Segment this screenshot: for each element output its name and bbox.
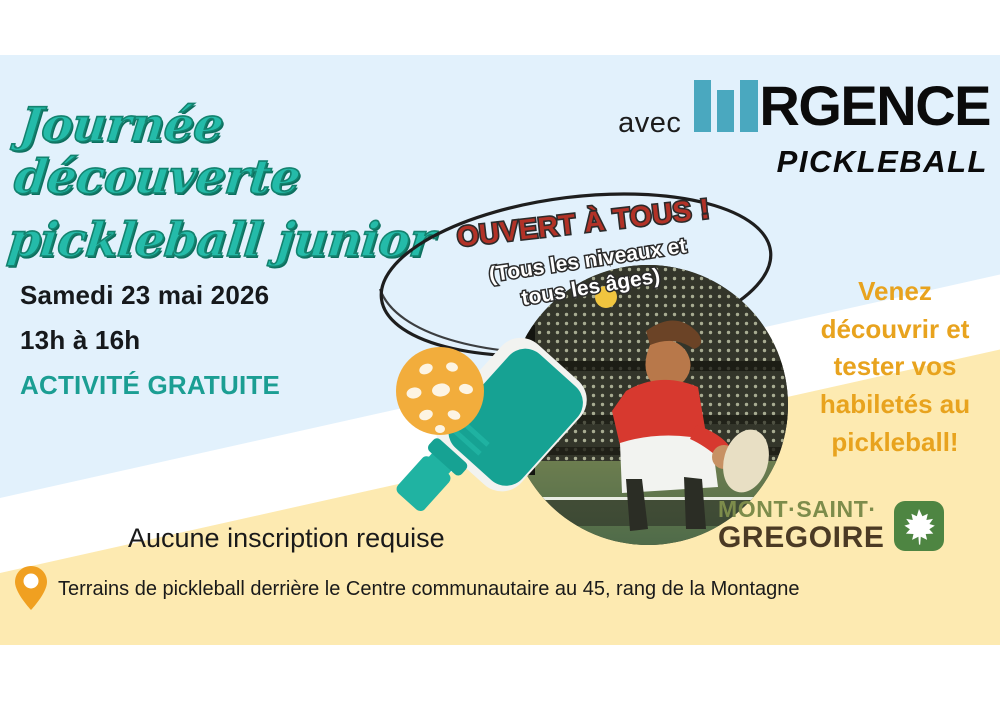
cta-line3: tester vos xyxy=(798,348,992,386)
location-address: Terrains de pickleball derrière le Centr… xyxy=(58,578,800,601)
cta-text: Venez découvrir et tester vos habiletés … xyxy=(798,273,992,461)
sponsor-brand-name: RGENCE xyxy=(759,80,990,132)
sponsor-brand-sub: PICKLEBALL xyxy=(618,144,988,180)
cta-line1: Venez xyxy=(798,273,992,311)
event-details: Samedi 23 mai 2026 13h à 16h ACTIVITÉ GR… xyxy=(20,280,360,401)
page-title-line2: pickleball junior xyxy=(5,215,480,267)
maple-leaf-icon xyxy=(900,507,938,545)
page-title: Journée découverte pickleball junior xyxy=(5,100,493,267)
municipality-logo: MONT·SAINT· GREGOIRE xyxy=(718,498,944,553)
municipality-text: MONT·SAINT· GREGOIRE xyxy=(718,498,885,553)
urgence-u-glyph-icon xyxy=(694,80,758,132)
maple-leaf-badge xyxy=(894,501,944,551)
municipality-line1: MONT·SAINT· xyxy=(718,498,885,521)
poster-canvas: Journée découverte pickleball junior Sam… xyxy=(0,55,1000,645)
page-title-line1: Journée découverte xyxy=(12,98,303,205)
event-time: 13h à 16h xyxy=(20,325,360,356)
municipality-line2: GREGOIRE xyxy=(718,523,885,553)
cta-line2: découvrir et xyxy=(798,311,992,349)
sponsor-logo-row: avec RGENCE xyxy=(618,80,990,140)
event-price-badge: ACTIVITÉ GRATUITE xyxy=(20,370,360,401)
sponsor-logo: avec RGENCE PICKLEBALL xyxy=(618,80,990,180)
sponsor-prefix: avec xyxy=(618,107,681,140)
cta-line4: habiletés au xyxy=(798,386,992,424)
registration-note: Aucune inscription requise xyxy=(128,523,445,554)
event-date: Samedi 23 mai 2026 xyxy=(20,280,360,311)
cta-line5: pickleball! xyxy=(798,424,992,462)
sponsor-wordmark: RGENCE xyxy=(694,80,990,132)
location-pin-icon xyxy=(14,565,48,611)
